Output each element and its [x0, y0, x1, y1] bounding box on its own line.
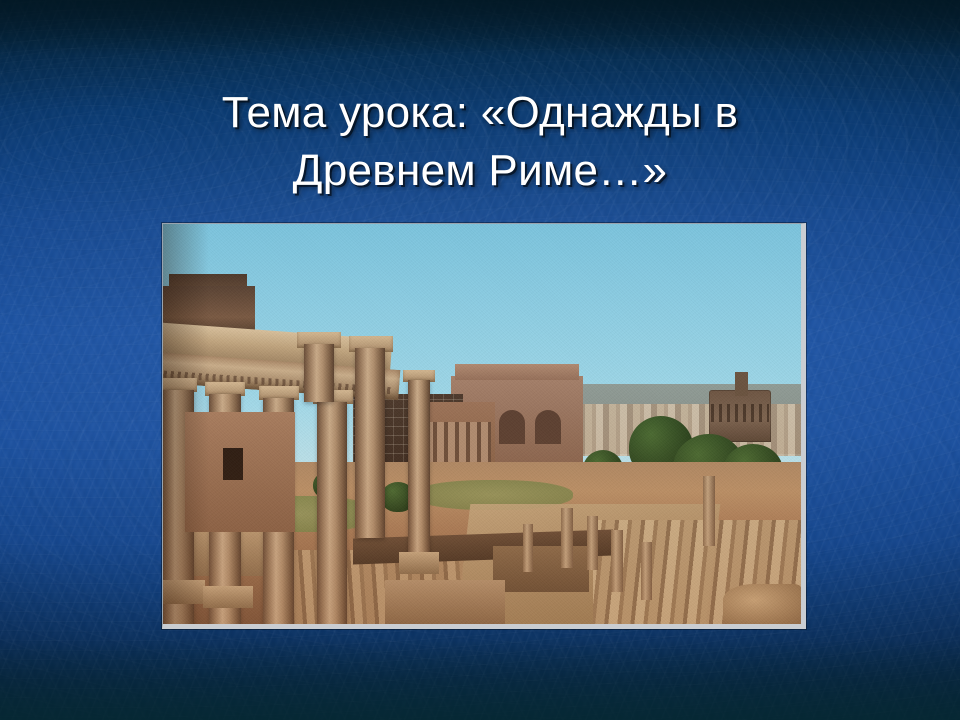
standing-pillar	[561, 508, 573, 568]
basilica-arch	[499, 410, 525, 444]
roman-forum-photo	[163, 224, 801, 624]
ruin-rubble	[493, 546, 589, 592]
standing-pillar	[703, 476, 715, 546]
column-base	[203, 586, 253, 608]
standing-pillar	[641, 542, 652, 600]
temple-column	[304, 344, 334, 402]
temple-column	[317, 402, 347, 624]
standing-pillar	[523, 524, 533, 572]
slide-title: Тема урока: «Однажды в Древнем Риме…»	[50, 84, 910, 200]
building-window	[223, 448, 243, 480]
standing-pillar	[587, 516, 598, 570]
column-base	[399, 552, 439, 574]
basilica-upper-wall	[455, 364, 579, 380]
standing-pillar	[611, 530, 623, 592]
temple-column	[355, 348, 385, 538]
presentation-slide: Тема урока: «Однажды в Древнем Риме…»	[0, 0, 960, 720]
colosseum-arches	[711, 404, 769, 422]
column-base	[163, 580, 205, 604]
photo-frame	[162, 223, 806, 629]
column-of-phocas	[408, 380, 430, 556]
colosseum-tower	[735, 372, 748, 396]
basilica-arch	[535, 410, 561, 444]
background-bottom-shade	[0, 640, 960, 720]
ruin-rubble	[385, 580, 505, 624]
ruin-rubble	[723, 584, 801, 624]
background-top-shade	[0, 0, 960, 56]
